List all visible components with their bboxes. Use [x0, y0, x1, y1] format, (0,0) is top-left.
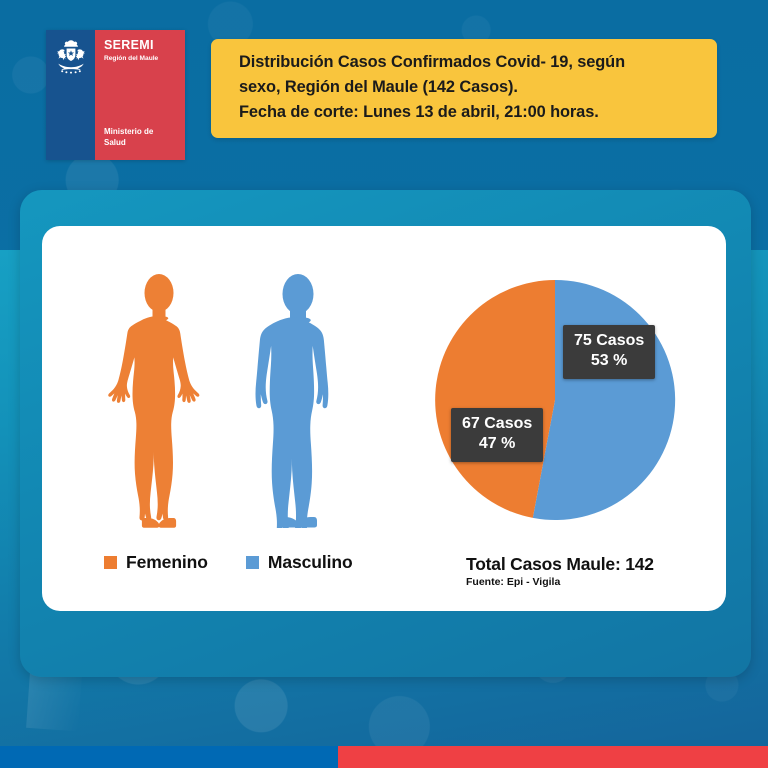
banner-line-2: sexo, Región del Maule (142 Casos). [239, 75, 701, 100]
legend-label-masculino: Masculino [268, 552, 353, 573]
male-body-silhouette-icon [243, 272, 353, 533]
seremi-logo-block: SEREMI Región del Maule Ministerio de Sa… [46, 30, 185, 160]
pie-label-masculino-cases: 75 Casos [574, 331, 644, 351]
footer-bar [0, 746, 768, 768]
pie-label-masculino: 75 Casos 53 % [563, 325, 655, 379]
pie-label-masculino-percent: 53 % [574, 351, 644, 371]
logo-red-panel: SEREMI Región del Maule Ministerio de Sa… [95, 30, 185, 160]
pie-label-femenino: 67 Casos 47 % [451, 408, 543, 462]
footer-bar-blue [0, 746, 338, 768]
footer-bar-red [338, 746, 768, 768]
pie-label-femenino-cases: 67 Casos [462, 414, 532, 434]
legend-swatch-masculino-icon [246, 556, 259, 569]
logo-seremi-title: SEREMI [104, 39, 185, 52]
logo-region-subtitle: Región del Maule [104, 55, 185, 62]
pie-slice-femenino [435, 280, 555, 518]
pie-label-femenino-percent: 47 % [462, 434, 532, 454]
legend-label-femenino: Femenino [126, 552, 208, 573]
chart-legend: Femenino Masculino [104, 552, 353, 573]
logo-ministry-line2: Salud [104, 138, 153, 149]
title-banner: Distribución Casos Confirmados Covid- 19… [211, 39, 717, 138]
banner-line-1: Distribución Casos Confirmados Covid- 19… [239, 50, 701, 75]
legend-item-masculino: Masculino [246, 552, 353, 573]
infographic-canvas: SEREMI Región del Maule Ministerio de Sa… [0, 0, 768, 768]
pie-chart [433, 278, 677, 522]
totals-block: Total Casos Maule: 142 Fuente: Epi - Vig… [466, 554, 654, 589]
legend-item-femenino: Femenino [104, 552, 208, 573]
banner-line-3: Fecha de corte: Lunes 13 de abril, 21:00… [239, 100, 701, 125]
total-cases-label: Total Casos Maule: 142 [466, 554, 654, 574]
logo-ministry-line1: Ministerio de [104, 127, 153, 138]
female-body-silhouette-icon [104, 272, 214, 533]
legend-swatch-femenino-icon [104, 556, 117, 569]
source-label: Fuente: Epi - Vigila [466, 576, 654, 589]
logo-ministry-text: Ministerio de Salud [104, 127, 153, 149]
chile-coat-of-arms-icon [51, 38, 91, 85]
logo-blue-panel [46, 30, 95, 160]
